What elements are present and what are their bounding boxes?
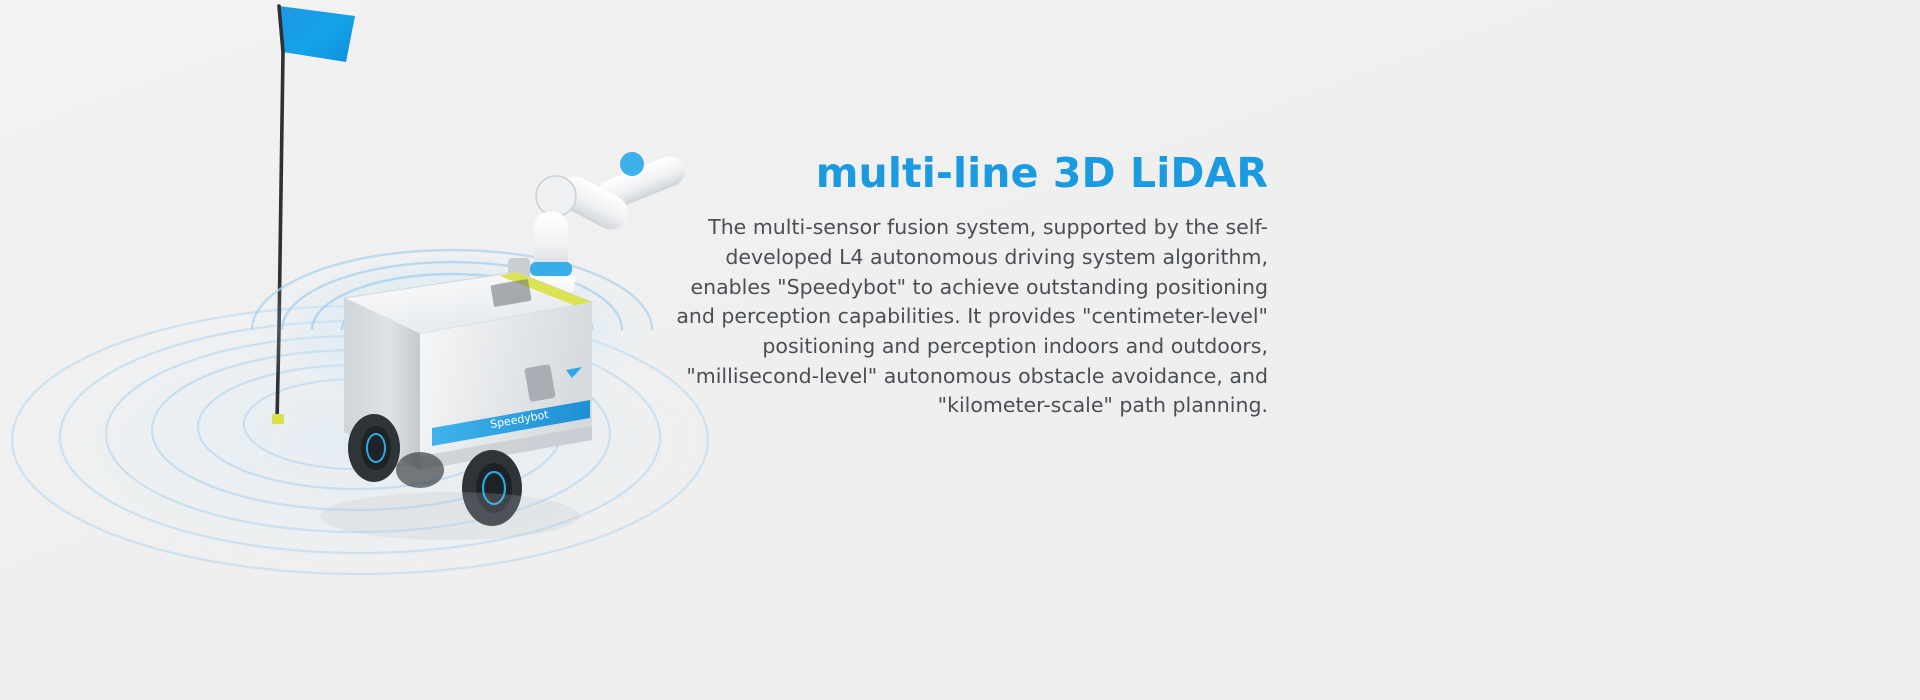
description-paragraph: The multi-sensor fusion system, supporte… xyxy=(660,213,1268,421)
page-title: multi-line 3D LiDAR xyxy=(660,150,1268,197)
text-content: multi-line 3D LiDAR The multi-sensor fus… xyxy=(660,150,1268,421)
flag-icon xyxy=(279,6,355,62)
contact-shadow xyxy=(320,492,580,540)
hero-section: Speedybot multi-line xyxy=(0,0,1920,700)
